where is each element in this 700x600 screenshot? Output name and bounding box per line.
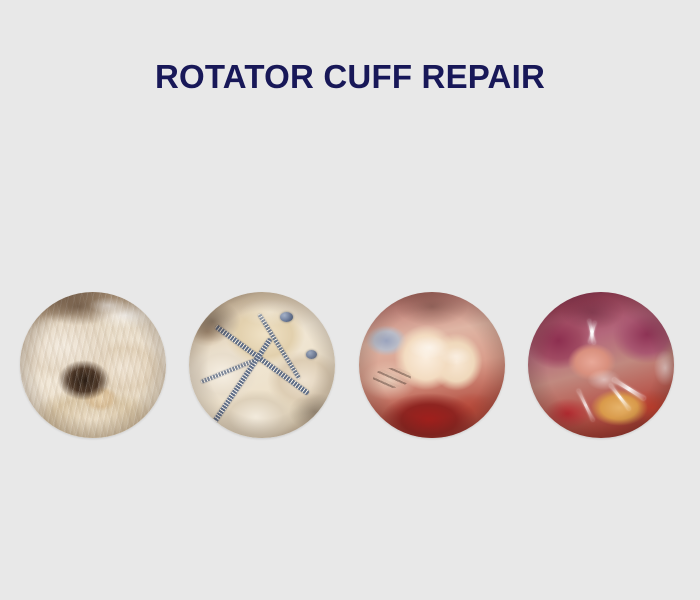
figure-row xyxy=(20,292,674,440)
figure-cuff-tear xyxy=(20,292,166,438)
figure-vascular-field xyxy=(359,292,505,438)
page-title: ROTATOR CUFF REPAIR xyxy=(0,58,700,96)
arthroscopy-image-suture-repair xyxy=(189,292,335,438)
slide-canvas: ROTATOR CUFF REPAIR xyxy=(0,0,700,600)
arthroscopy-image-vascular-field xyxy=(359,292,505,438)
figure-suture-repair xyxy=(189,292,335,438)
tendon-fibre-texture xyxy=(20,292,166,438)
arthroscopy-image-bursal-view xyxy=(528,292,674,438)
figure-bursal-view xyxy=(528,292,674,438)
